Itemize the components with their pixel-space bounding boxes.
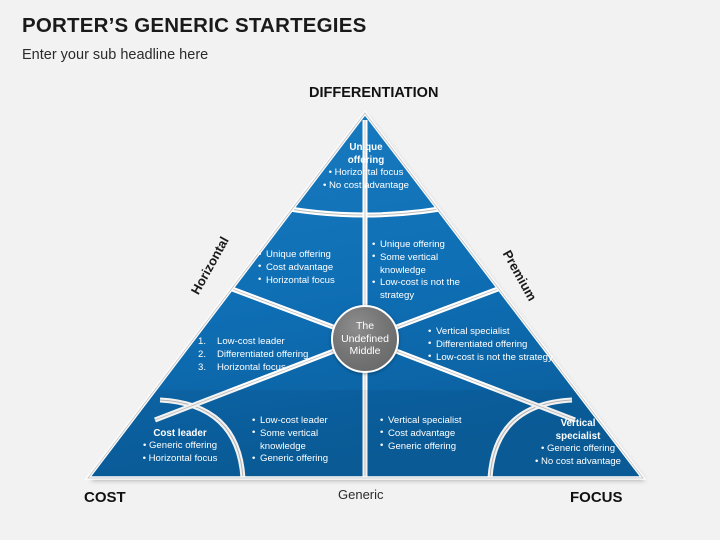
center-circle-line3: Middle (341, 345, 389, 358)
list-item: Unique offering (372, 239, 486, 252)
segment-bottom-right-corner: Vertical specialist Generic offering No … (518, 417, 638, 469)
segment-bottom-left-corner-bullets: Generic offering Horizontal focus (122, 440, 238, 466)
segment-bottom-right-corner-heading-line2: specialist (518, 430, 638, 443)
segment-bottom-left-bullets: Low-cost leader Some vertical knowledge … (252, 415, 360, 466)
list-item: Some vertical knowledge (372, 252, 486, 278)
list-item: Low-cost leader (252, 415, 360, 428)
segment-mid-left-numbered-list: Low-cost leader Differentiated offering … (198, 336, 350, 374)
list-item: Vertical specialist (428, 326, 558, 339)
list-item: Generic offering (252, 453, 360, 466)
segment-bottom-left: Low-cost leader Some vertical knowledge … (252, 415, 360, 466)
list-item: Differentiated offering (428, 339, 558, 352)
list-item: Horizontal focus (258, 275, 368, 288)
label-differentiation: DIFFERENTIATION (309, 85, 438, 101)
segment-mid-right: Vertical specialist Differentiated offer… (428, 326, 558, 364)
label-focus: FOCUS (570, 489, 623, 506)
segment-upper-right-bullets: Unique offering Some vertical knowledge … (372, 239, 486, 303)
list-item: Cost advantage (380, 428, 492, 441)
porter-generic-strategies-pyramid: DIFFERENTIATION COST FOCUS Generic Horiz… (0, 0, 720, 540)
segment-upper-right: Unique offering Some vertical knowledge … (372, 239, 486, 303)
list-item: Generic offering (122, 440, 238, 453)
segment-bottom-left-corner: Cost leader Generic offering Horizontal … (122, 427, 238, 466)
label-generic: Generic (338, 487, 384, 502)
center-circle-line2: Undefined (341, 333, 389, 346)
segment-apex-heading-line2: offering (300, 154, 432, 167)
label-cost: COST (84, 489, 126, 506)
list-item: Horizontal focus (122, 453, 238, 466)
segment-bottom-left-corner-heading: Cost leader (122, 427, 238, 440)
list-item: Cost advantage (258, 262, 368, 275)
list-item: Unique offering (258, 249, 368, 262)
segment-bottom-right-corner-heading-line1: Vertical (518, 417, 638, 430)
list-item: Differentiated offering (198, 349, 350, 362)
list-item: Generic offering (380, 441, 492, 454)
segment-upper-left: Unique offering Cost advantage Horizonta… (258, 249, 368, 287)
segment-apex: Unique offering Horizontal focus No cost… (300, 141, 432, 193)
segment-mid-right-bullets: Vertical specialist Differentiated offer… (428, 326, 558, 364)
center-circle-line1: The (341, 320, 389, 333)
segment-bottom-right-bullets: Vertical specialist Cost advantage Gener… (380, 415, 492, 453)
segment-upper-left-bullets: Unique offering Cost advantage Horizonta… (258, 249, 368, 287)
segment-mid-left: Low-cost leader Differentiated offering … (198, 336, 350, 374)
list-item: No cost advantage (300, 180, 432, 193)
center-circle-undefined-middle: The Undefined Middle (331, 305, 399, 373)
list-item: Vertical specialist (380, 415, 492, 428)
list-item: Horizontal focus (198, 362, 350, 375)
list-item: Low-cost leader (198, 336, 350, 349)
segment-apex-bullets: Horizontal focus No cost advantage (300, 167, 432, 193)
list-item: Horizontal focus (300, 167, 432, 180)
list-item: Generic offering (518, 443, 638, 456)
segment-bottom-right-corner-bullets: Generic offering No cost advantage (518, 443, 638, 469)
list-item: Some vertical knowledge (252, 428, 360, 454)
segment-bottom-right: Vertical specialist Cost advantage Gener… (380, 415, 492, 453)
list-item: Low-cost is not the strategy (372, 277, 486, 303)
list-item: No cost advantage (518, 456, 638, 469)
segment-apex-heading-line1: Unique (300, 141, 432, 154)
list-item: Low-cost is not the strategy (428, 352, 558, 365)
